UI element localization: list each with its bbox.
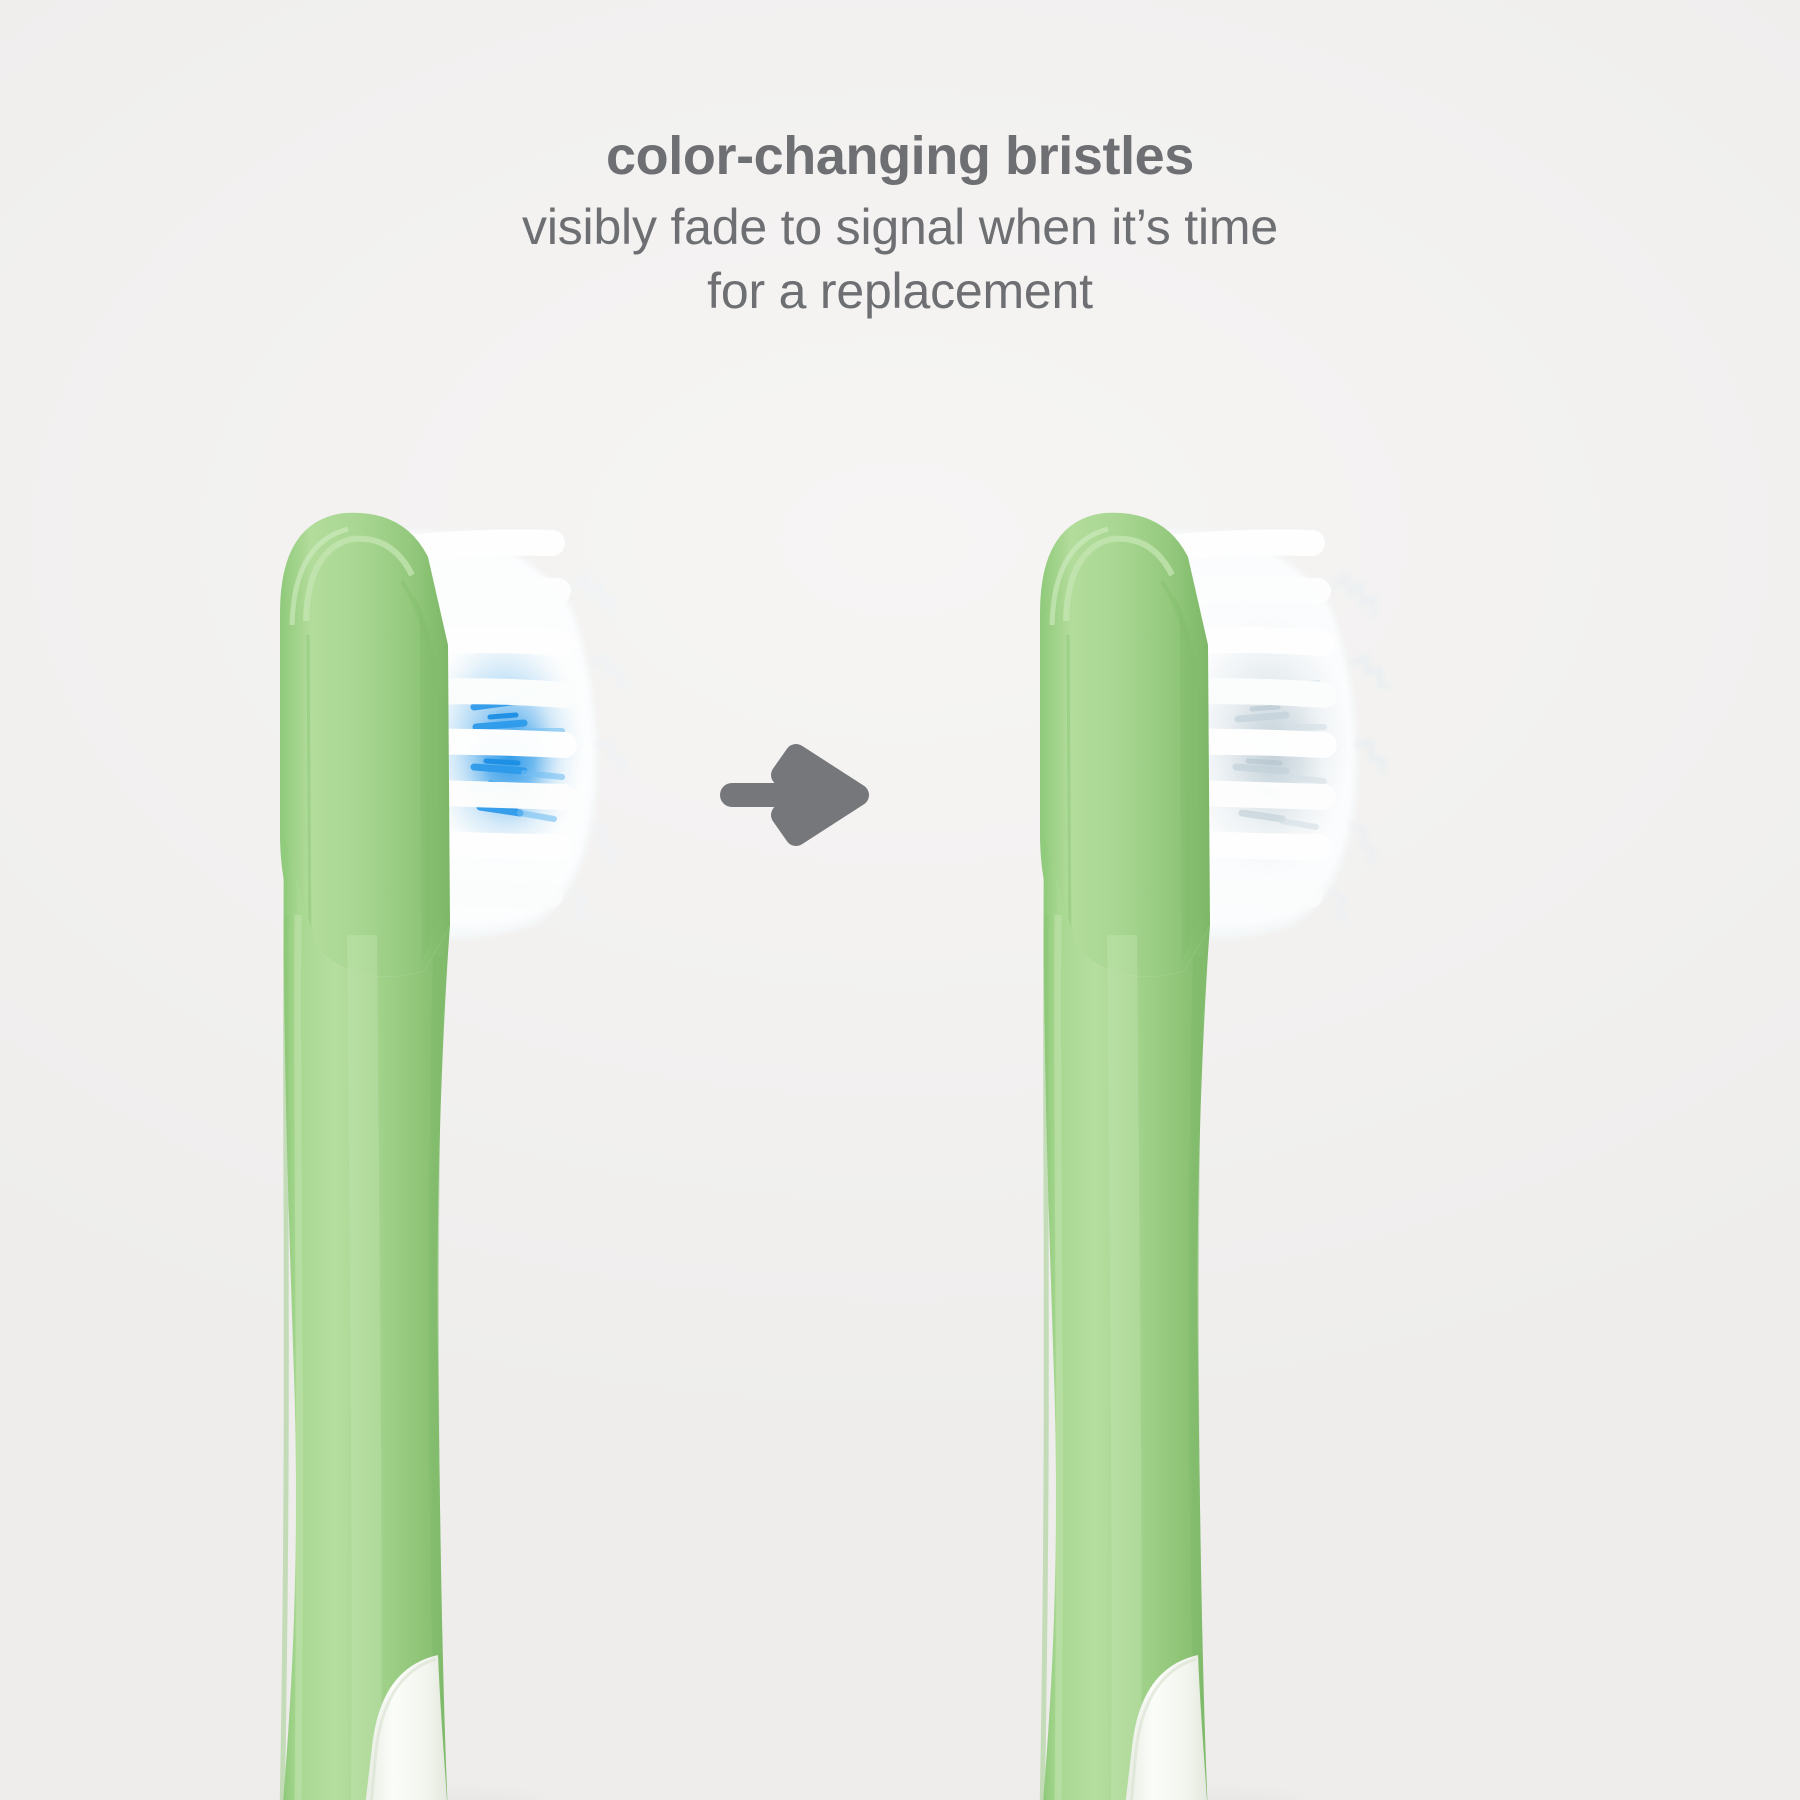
toothbrush-after-graphic xyxy=(1012,495,1432,1800)
brush-head-after xyxy=(1040,513,1210,977)
caption-subtitle: visibly fade to signal when it’s time fo… xyxy=(0,195,1800,323)
toothbrush-before-graphic xyxy=(252,495,672,1800)
caption-subtitle-line-2: for a replacement xyxy=(0,259,1800,323)
right-arrow-icon xyxy=(712,735,872,855)
product-comparison-image: color-changing bristles visibly fade to … xyxy=(0,0,1800,1800)
caption-block: color-changing bristles visibly fade to … xyxy=(0,128,1800,323)
toothbrush-before xyxy=(252,495,672,1800)
caption-subtitle-line-1: visibly fade to signal when it’s time xyxy=(522,199,1278,255)
brush-handle-after xyxy=(1042,835,1210,1800)
brush-handle-before xyxy=(282,835,450,1800)
toothbrush-after xyxy=(1012,495,1432,1800)
caption-headline: color-changing bristles xyxy=(0,128,1800,185)
brush-head-before xyxy=(280,513,450,977)
